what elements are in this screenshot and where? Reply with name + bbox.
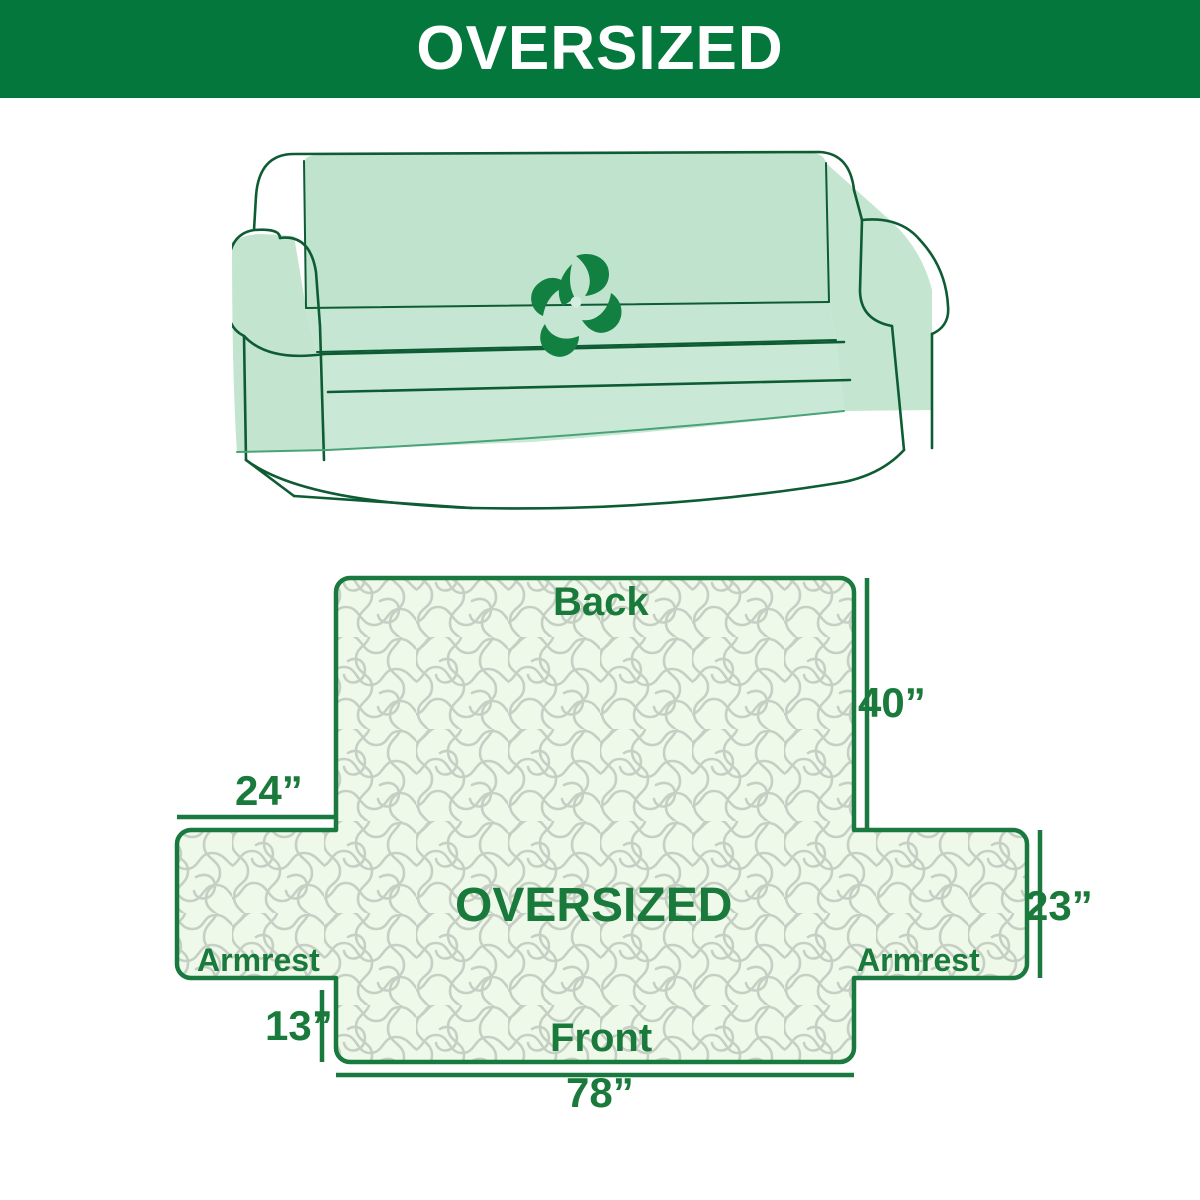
panel-label-front: Front xyxy=(550,1018,652,1058)
measurement-label-front-height: 13” xyxy=(265,1005,333,1047)
page-title: OVERSIZED xyxy=(416,18,783,80)
panel-label-back: Back xyxy=(553,582,649,622)
diagram-center-label: OVERSIZED xyxy=(455,882,732,930)
measurement-label-armrest-depth: 23” xyxy=(1025,885,1093,927)
measurement-label-back-height: 40” xyxy=(858,682,926,724)
panel-label-armrest-left: Armrest xyxy=(197,944,320,976)
measurement-label-back-offset: 24” xyxy=(235,770,303,812)
header-banner: OVERSIZED xyxy=(0,0,1200,98)
slipcover-seat-panel xyxy=(306,302,844,450)
measurement-label-total-width: 78” xyxy=(566,1072,634,1114)
panel-label-armrest-right: Armrest xyxy=(857,944,980,976)
sofa-illustration xyxy=(232,130,992,530)
slipcover-right-arm xyxy=(826,163,932,411)
